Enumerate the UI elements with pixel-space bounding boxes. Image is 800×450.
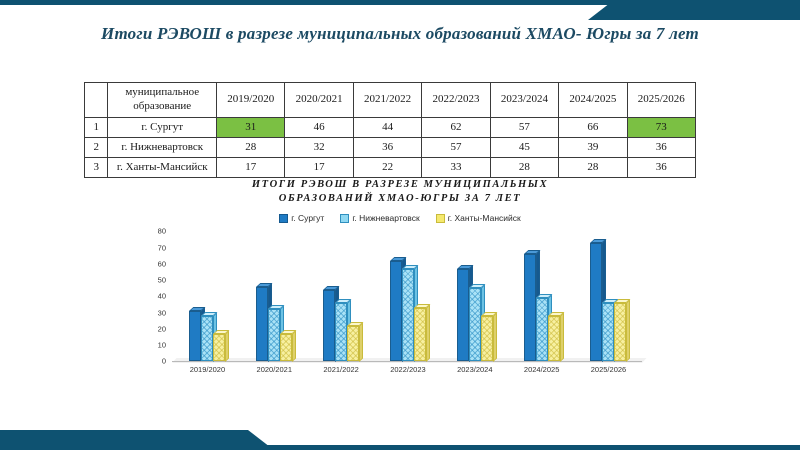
legend-item-nizhnevartovsk[interactable]: г. Нижневартовск: [340, 213, 419, 223]
cell-2020-2021: 32: [285, 138, 353, 158]
legend-swatch-icon: [436, 214, 445, 223]
bar-face: [201, 316, 213, 362]
legend-swatch-icon: [279, 214, 288, 223]
bar-group: [181, 231, 233, 361]
table-header-row: муниципальное образование 2019/2020 2020…: [85, 83, 696, 118]
bar[interactable]: [524, 254, 536, 361]
cell-2024-2025: 39: [559, 138, 627, 158]
y-axis-tick: 60: [158, 259, 166, 268]
bar-face: [524, 254, 536, 361]
bar-face: [548, 316, 560, 362]
bar[interactable]: [402, 269, 414, 362]
bar-group: [516, 231, 568, 361]
y-axis-tick: 10: [158, 341, 166, 350]
cell-2025-2026: 36: [627, 138, 695, 158]
bar[interactable]: [268, 309, 280, 361]
bar-side: [626, 299, 630, 361]
bar-group: [382, 231, 434, 361]
bar[interactable]: [548, 316, 560, 362]
top-right-decoration: [588, 3, 800, 20]
results-table-container: муниципальное образование 2019/2020 2020…: [84, 82, 696, 178]
cell-2020-2021: 17: [285, 158, 353, 178]
cell-2023-2024: 57: [490, 118, 558, 138]
legend-item-surgut[interactable]: г. Сургут: [279, 213, 324, 223]
bar-face: [347, 326, 359, 362]
y-axis-tick: 70: [158, 243, 166, 252]
chart-legend: г. Сургут г. Нижневартовск г. Ханты-Манс…: [120, 213, 680, 223]
bar-side: [292, 330, 296, 361]
bar-face: [614, 303, 626, 362]
row-municipality: г. Нижневартовск: [108, 138, 217, 158]
bar-face: [189, 311, 201, 361]
table-header-year-2019-2020: 2019/2020: [217, 83, 285, 118]
chart-title-line-2: ОБРАЗОВАНИЙ ХМАО-ЮГРЫ ЗА 7 ЛЕТ: [120, 192, 680, 206]
table-row: 3 г. Ханты-Мансийск 17 17 22 33 28 28 36: [85, 158, 696, 178]
table-header-year-2020-2021: 2020/2021: [285, 83, 353, 118]
bar-group: [582, 231, 634, 361]
row-index: 1: [85, 118, 108, 138]
cell-2024-2025: 66: [559, 118, 627, 138]
bar[interactable]: [469, 288, 481, 361]
bar[interactable]: [481, 316, 493, 362]
page-title: Итоги РЭВОШ в разрезе муниципальных обра…: [0, 24, 800, 44]
y-axis-tick: 20: [158, 324, 166, 333]
row-municipality: г. Сургут: [108, 118, 217, 138]
x-axis-label: 2020/2021: [248, 365, 300, 374]
table-row: 1 г. Сургут 31 46 44 62 57 66 73: [85, 118, 696, 138]
table-header-year-2022-2023: 2022/2023: [422, 83, 490, 118]
bar-face: [590, 243, 602, 362]
x-axis-label: 2022/2023: [382, 365, 434, 374]
bar-face: [457, 269, 469, 362]
bar[interactable]: [280, 334, 292, 362]
bar[interactable]: [390, 261, 402, 362]
legend-swatch-icon: [340, 214, 349, 223]
table-header-year-2021-2022: 2021/2022: [353, 83, 421, 118]
table-header: муниципальное образование 2019/2020 2020…: [85, 83, 696, 118]
cell-2019-2020: 31: [217, 118, 285, 138]
bar-side: [225, 330, 229, 361]
table-header-year-2023-2024: 2023/2024: [490, 83, 558, 118]
cell-2021-2022: 22: [353, 158, 421, 178]
bar-group: [315, 231, 367, 361]
cell-2019-2020: 17: [217, 158, 285, 178]
cell-2019-2020: 28: [217, 138, 285, 158]
bar[interactable]: [335, 303, 347, 362]
bar-side: [493, 312, 497, 361]
chart-title-line-1: ИТОГИ РЭВОШ В РАЗРЕЗЕ МУНИЦИПАЛЬНЫХ: [120, 178, 680, 192]
legend-label: г. Сургут: [291, 213, 324, 223]
bar[interactable]: [590, 243, 602, 362]
bar-face: [213, 334, 225, 362]
bar[interactable]: [256, 287, 268, 362]
table-header-index: [85, 83, 108, 118]
bar-chart: ИТОГИ РЭВОШ В РАЗРЕЗЕ МУНИЦИПАЛЬНЫХ ОБРА…: [120, 178, 680, 393]
bar-group: [248, 231, 300, 361]
bar[interactable]: [347, 326, 359, 362]
bar-face: [280, 334, 292, 362]
y-axis: 01020304050607080: [120, 231, 172, 361]
results-table: муниципальное образование 2019/2020 2020…: [84, 82, 696, 178]
x-axis-label: 2021/2022: [315, 365, 367, 374]
bar[interactable]: [602, 303, 614, 362]
table-header-year-2025-2026: 2025/2026: [627, 83, 695, 118]
bar-group: [449, 231, 501, 361]
bar-face: [256, 287, 268, 362]
bar[interactable]: [323, 290, 335, 362]
y-axis-tick: 30: [158, 308, 166, 317]
cell-2022-2023: 62: [422, 118, 490, 138]
slide-canvas: Итоги РЭВОШ в разрезе муниципальных обра…: [0, 0, 800, 450]
chart-plot-area: 01020304050607080 2019/20202020/20212021…: [120, 231, 680, 383]
y-axis-tick: 0: [162, 357, 166, 366]
chart-title: ИТОГИ РЭВОШ В РАЗРЕЗЕ МУНИЦИПАЛЬНЫХ ОБРА…: [120, 178, 680, 206]
bar-face: [268, 309, 280, 361]
bar[interactable]: [414, 308, 426, 362]
cell-2023-2024: 45: [490, 138, 558, 158]
bar-side: [426, 304, 430, 361]
cell-2025-2026: 73: [627, 118, 695, 138]
bar-face: [402, 269, 414, 362]
bottom-left-decoration: [0, 430, 270, 447]
cell-2025-2026: 36: [627, 158, 695, 178]
bar-face: [335, 303, 347, 362]
table-row: 2 г. Нижневартовск 28 32 36 57 45 39 36: [85, 138, 696, 158]
bar[interactable]: [457, 269, 469, 362]
legend-label: г. Нижневартовск: [352, 213, 419, 223]
bar[interactable]: [536, 298, 548, 361]
bar-side: [560, 312, 564, 361]
cell-2022-2023: 57: [422, 138, 490, 158]
cell-2024-2025: 28: [559, 158, 627, 178]
x-axis-labels: 2019/20202020/20212021/20222022/20232023…: [174, 365, 642, 374]
bar-groups: [174, 231, 642, 361]
cell-2023-2024: 28: [490, 158, 558, 178]
y-axis-tick: 50: [158, 276, 166, 285]
table-body: 1 г. Сургут 31 46 44 62 57 66 73 2 г. Ни…: [85, 118, 696, 178]
cell-2021-2022: 44: [353, 118, 421, 138]
bar-face: [481, 316, 493, 362]
y-axis-tick: 40: [158, 292, 166, 301]
bar-side: [359, 322, 363, 361]
bar-face: [390, 261, 402, 362]
x-axis-label: 2024/2025: [516, 365, 568, 374]
bar-face: [323, 290, 335, 362]
y-axis-tick: 80: [158, 227, 166, 236]
x-axis-line: [172, 361, 642, 362]
cell-2022-2023: 33: [422, 158, 490, 178]
bar[interactable]: [213, 334, 225, 362]
row-index: 2: [85, 138, 108, 158]
x-axis-label: 2023/2024: [449, 365, 501, 374]
x-axis-label: 2025/2026: [582, 365, 634, 374]
table-header-municipality: муниципальное образование: [108, 83, 217, 118]
row-index: 3: [85, 158, 108, 178]
bar-face: [536, 298, 548, 361]
legend-item-khanty-mansiysk[interactable]: г. Ханты-Мансийск: [436, 213, 521, 223]
bar[interactable]: [189, 311, 201, 361]
bar-face: [602, 303, 614, 362]
cell-2020-2021: 46: [285, 118, 353, 138]
x-axis-label: 2019/2020: [181, 365, 233, 374]
bar-face: [414, 308, 426, 362]
table-header-year-2024-2025: 2024/2025: [559, 83, 627, 118]
bar-face: [469, 288, 481, 361]
row-municipality: г. Ханты-Мансийск: [108, 158, 217, 178]
legend-label: г. Ханты-Мансийск: [448, 213, 521, 223]
bar[interactable]: [614, 303, 626, 362]
cell-2021-2022: 36: [353, 138, 421, 158]
bar[interactable]: [201, 316, 213, 362]
